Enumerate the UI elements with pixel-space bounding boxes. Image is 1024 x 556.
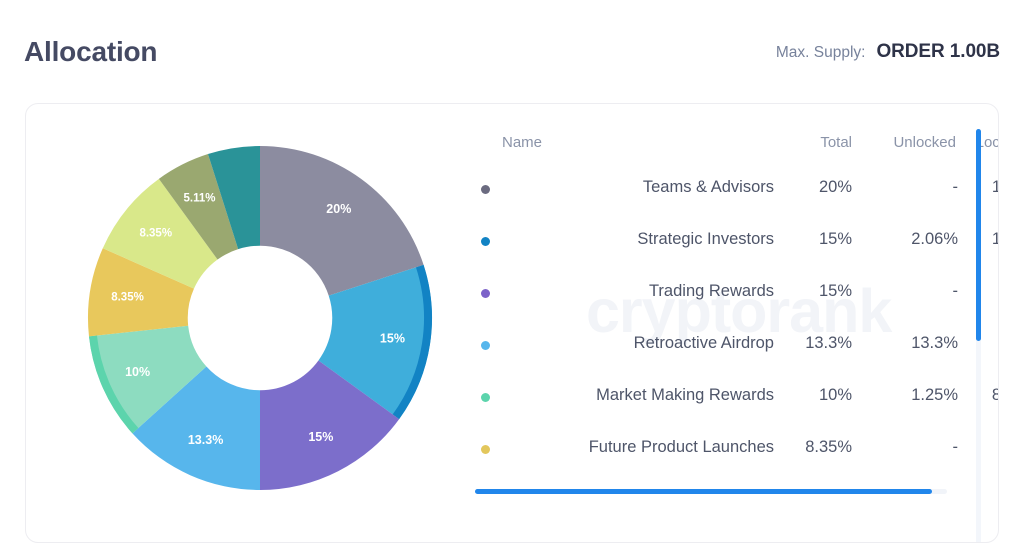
donut-slice-label: 13.3%	[188, 433, 223, 447]
row-name-label: Retroactive Airdrop	[634, 334, 774, 352]
table-row[interactable]: Teams & Advisors20%-19.9	[476, 178, 999, 230]
column-header-total[interactable]: Total	[774, 134, 852, 178]
legend-dot-icon	[481, 445, 490, 454]
row-unlocked-cell: -	[852, 438, 958, 467]
column-header-unlocked[interactable]: Unlocked	[852, 134, 958, 178]
row-total-cell: 10%	[774, 386, 852, 438]
row-unlocked-cell: -	[852, 282, 958, 334]
table-row[interactable]: Retroactive Airdrop13.3%13.3%	[476, 334, 999, 386]
row-name-label: Trading Rewards	[649, 282, 774, 300]
donut-slice-label: 15%	[380, 331, 405, 345]
row-name-cell[interactable]: Strategic Investors	[476, 230, 774, 282]
row-name-label: Strategic Investors	[637, 230, 774, 248]
table-header-row: Name Total Unlocked Locked	[476, 134, 999, 178]
allocation-card: cryptorank 20%15%15%13.3%10%8.35%8.35%5.…	[25, 103, 999, 543]
table-row[interactable]: Future Product Launches8.35%-	[476, 438, 999, 467]
row-total-cell: 13.3%	[774, 334, 852, 386]
donut-slice-label: 20%	[326, 202, 351, 216]
row-total-cell: 8.35%	[774, 438, 852, 467]
table-row[interactable]: Trading Rewards15%-	[476, 282, 999, 334]
vertical-scrollbar-thumb[interactable]	[976, 129, 981, 341]
donut-slice-label: 8.35%	[111, 291, 144, 303]
row-unlocked-cell: 1.25%	[852, 386, 958, 438]
page-header: Allocation Max. Supply: ORDER 1.00B	[0, 0, 1024, 103]
legend-dot-icon	[481, 289, 490, 298]
page-title: Allocation	[24, 38, 157, 66]
donut-svg: 20%15%15%13.3%10%8.35%8.35%5.11%	[84, 142, 436, 494]
allocation-table-wrapper[interactable]: Name Total Unlocked Locked Teams & Advis…	[476, 134, 999, 543]
row-name-cell[interactable]: Trading Rewards	[476, 282, 774, 334]
max-supply-value: ORDER 1.00B	[877, 41, 1001, 63]
row-total-cell: 20%	[774, 178, 852, 230]
donut-slice-label: 15%	[308, 430, 333, 444]
row-name-label: Market Making Rewards	[596, 386, 774, 404]
max-supply-label: Max. Supply:	[776, 44, 866, 62]
row-total-cell: 15%	[774, 282, 852, 334]
legend-dot-icon	[481, 237, 490, 246]
allocation-donut-chart[interactable]: 20%15%15%13.3%10%8.35%8.35%5.11%	[84, 142, 436, 494]
column-header-name[interactable]: Name	[476, 134, 774, 178]
allocation-table: Name Total Unlocked Locked Teams & Advis…	[476, 134, 999, 467]
row-name-label: Future Product Launches	[589, 438, 774, 456]
horizontal-scrollbar-thumb[interactable]	[475, 489, 932, 494]
row-unlocked-cell: 13.3%	[852, 334, 958, 386]
row-unlocked-cell: 2.06%	[852, 230, 958, 282]
donut-slice-label: 10%	[125, 365, 150, 379]
row-name-cell[interactable]: Teams & Advisors	[476, 178, 774, 230]
row-unlocked-cell: -	[852, 178, 958, 230]
legend-dot-icon	[481, 185, 490, 194]
table-body: Teams & Advisors20%-19.9Strategic Invest…	[476, 178, 999, 467]
table-row[interactable]: Strategic Investors15%2.06%12.9	[476, 230, 999, 282]
row-name-cell[interactable]: Market Making Rewards	[476, 386, 774, 438]
donut-slice-label: 5.11%	[184, 192, 216, 204]
table-head: Name Total Unlocked Locked	[476, 134, 999, 178]
row-name-cell[interactable]: Retroactive Airdrop	[476, 334, 774, 386]
donut-slice-label: 8.35%	[139, 228, 172, 240]
row-total-cell: 15%	[774, 230, 852, 282]
legend-dot-icon	[481, 341, 490, 350]
table-row[interactable]: Market Making Rewards10%1.25%8.75	[476, 386, 999, 438]
max-supply-block: Max. Supply: ORDER 1.00B	[776, 41, 1000, 63]
row-name-label: Teams & Advisors	[643, 178, 774, 196]
legend-dot-icon	[481, 393, 490, 402]
row-name-cell[interactable]: Future Product Launches	[476, 438, 774, 467]
